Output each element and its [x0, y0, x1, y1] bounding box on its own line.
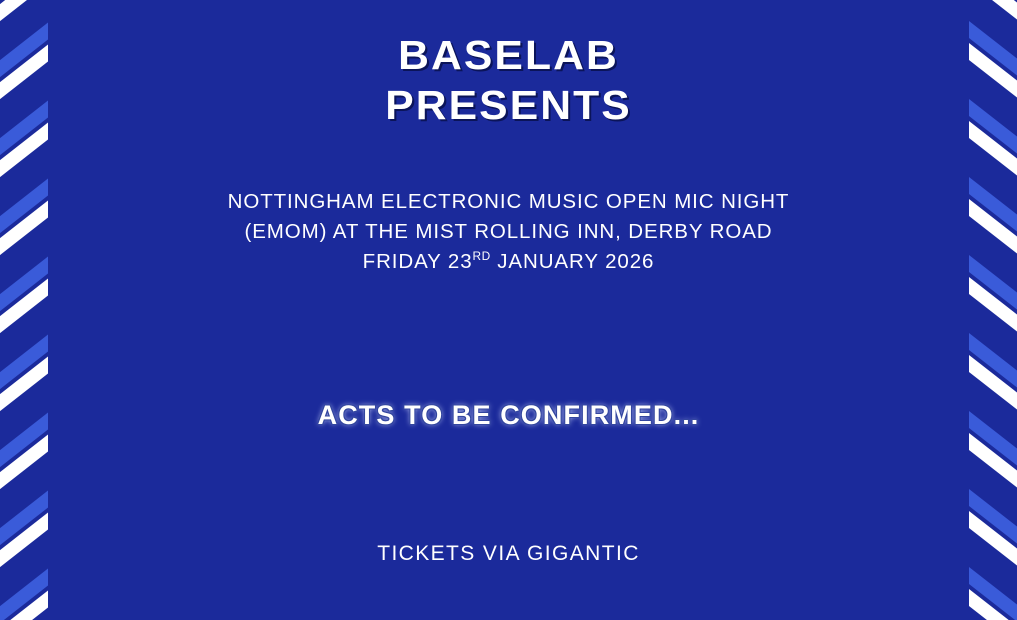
event-date-line: FRIDAY 23RD JANUARY 2026 — [228, 247, 790, 277]
tickets-info-text: TICKETS VIA GIGANTIC — [377, 542, 640, 566]
acts-status-text: ACTS TO BE CONFIRMED... — [318, 400, 700, 431]
date-prefix: FRIDAY 23 — [363, 250, 473, 273]
date-suffix: JANUARY 2026 — [491, 250, 655, 273]
headline-line-1: BASELAB — [398, 32, 619, 78]
event-details: NOTTINGHAM ELECTRONIC MUSIC OPEN MIC NIG… — [228, 187, 790, 277]
poster-headline: BASELAB PRESENTS — [385, 30, 631, 130]
date-ordinal-suffix: RD — [473, 249, 491, 263]
event-name-line: NOTTINGHAM ELECTRONIC MUSIC OPEN MIC NIG… — [228, 187, 790, 217]
headline-line-2: PRESENTS — [385, 80, 631, 130]
poster-content: BASELAB PRESENTS NOTTINGHAM ELECTRONIC M… — [0, 0, 1017, 620]
event-venue-line: (EMOM) AT THE MIST ROLLING INN, DERBY RO… — [228, 217, 790, 247]
event-poster: BASELAB PRESENTS NOTTINGHAM ELECTRONIC M… — [0, 0, 1017, 620]
